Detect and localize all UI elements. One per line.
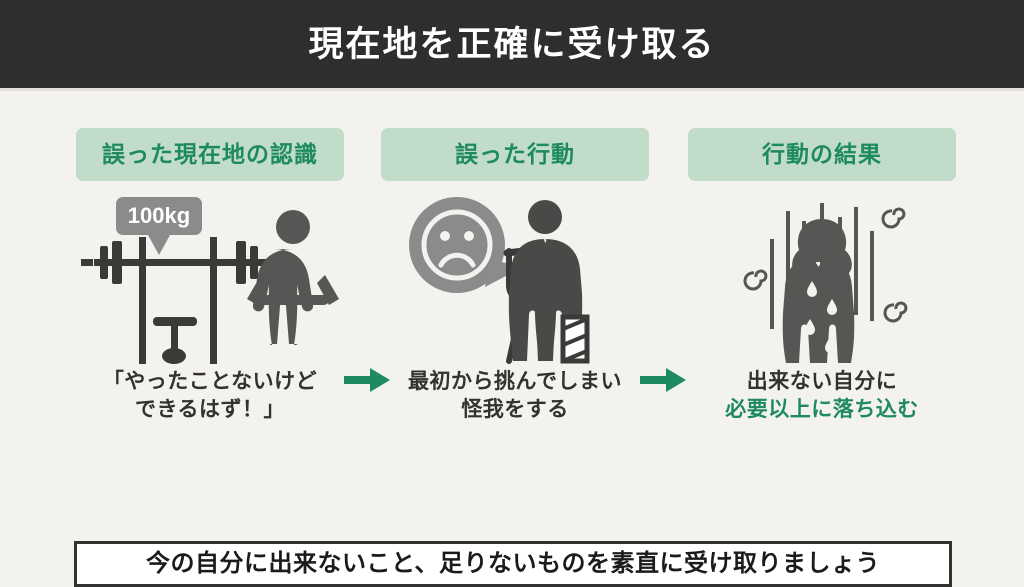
- step-1-caption-line-1: 「やったことないけど: [76, 368, 344, 396]
- arrow-right-icon: [344, 366, 390, 394]
- step-column-3: 行動の結果: [688, 128, 956, 425]
- injured-person-with-crutch-icon: [381, 189, 649, 364]
- step-3-caption-line-1: 出来ない自分に: [688, 368, 956, 396]
- leg-cast-icon: [563, 317, 587, 361]
- step-1-header-chip: 誤った現在地の認識: [76, 128, 344, 181]
- step-1-caption-line-2: できるはず！」: [76, 396, 344, 424]
- arrow-step-1-to-2: [344, 366, 390, 394]
- arrow-step-2-to-3: [640, 366, 686, 394]
- step-column-1: 誤った現在地の認識: [76, 128, 344, 425]
- step-2-illustration: [381, 189, 649, 364]
- standing-person-icon: [247, 210, 339, 345]
- summary-banner: 今の自分に出来ないこと、足りないものを素直に受け取りましょう: [74, 541, 952, 587]
- header-bar: 現在地を正確に受け取る: [0, 0, 1024, 88]
- step-2-caption: 最初から挑んでしまい 怪我をする: [381, 368, 649, 425]
- diagram-stage: 誤った現在地の認識: [0, 91, 1024, 538]
- barbell-rack-and-standing-person-icon: 100kg: [76, 189, 344, 364]
- step-2-caption-line-1: 最初から挑んでしまい: [381, 368, 649, 396]
- step-1-illustration: 100kg: [76, 189, 344, 364]
- step-2-caption-line-2: 怪我をする: [381, 396, 649, 424]
- step-3-header-chip: 行動の結果: [688, 128, 956, 181]
- summary-banner-text: 今の自分に出来ないこと、足りないものを素直に受け取りましょう: [146, 552, 880, 576]
- step-3-caption: 出来ない自分に 必要以上に落ち込む: [688, 368, 956, 425]
- step-1-header-label: 誤った現在地の認識: [102, 143, 318, 166]
- step-1-bubble-text: 100kg: [128, 203, 190, 228]
- crying-person-icon: [783, 219, 855, 363]
- step-column-2: 誤った行動: [381, 128, 649, 425]
- sad-face-bubble-icon: [409, 197, 523, 293]
- step-2-header-chip: 誤った行動: [381, 128, 649, 181]
- depressed-person-crying-icon: [688, 189, 956, 364]
- barbell-icon: [81, 237, 278, 364]
- step-1-caption: 「やったことないけど できるはず！」: [76, 368, 344, 425]
- page-title: 現在地を正確に受け取る: [308, 27, 715, 62]
- step-2-header-label: 誤った行動: [455, 143, 575, 166]
- arrow-right-icon: [640, 366, 686, 394]
- step-3-caption-line-2: 必要以上に落ち込む: [688, 396, 956, 424]
- step-3-illustration: [688, 189, 956, 364]
- step-3-header-label: 行動の結果: [762, 143, 882, 166]
